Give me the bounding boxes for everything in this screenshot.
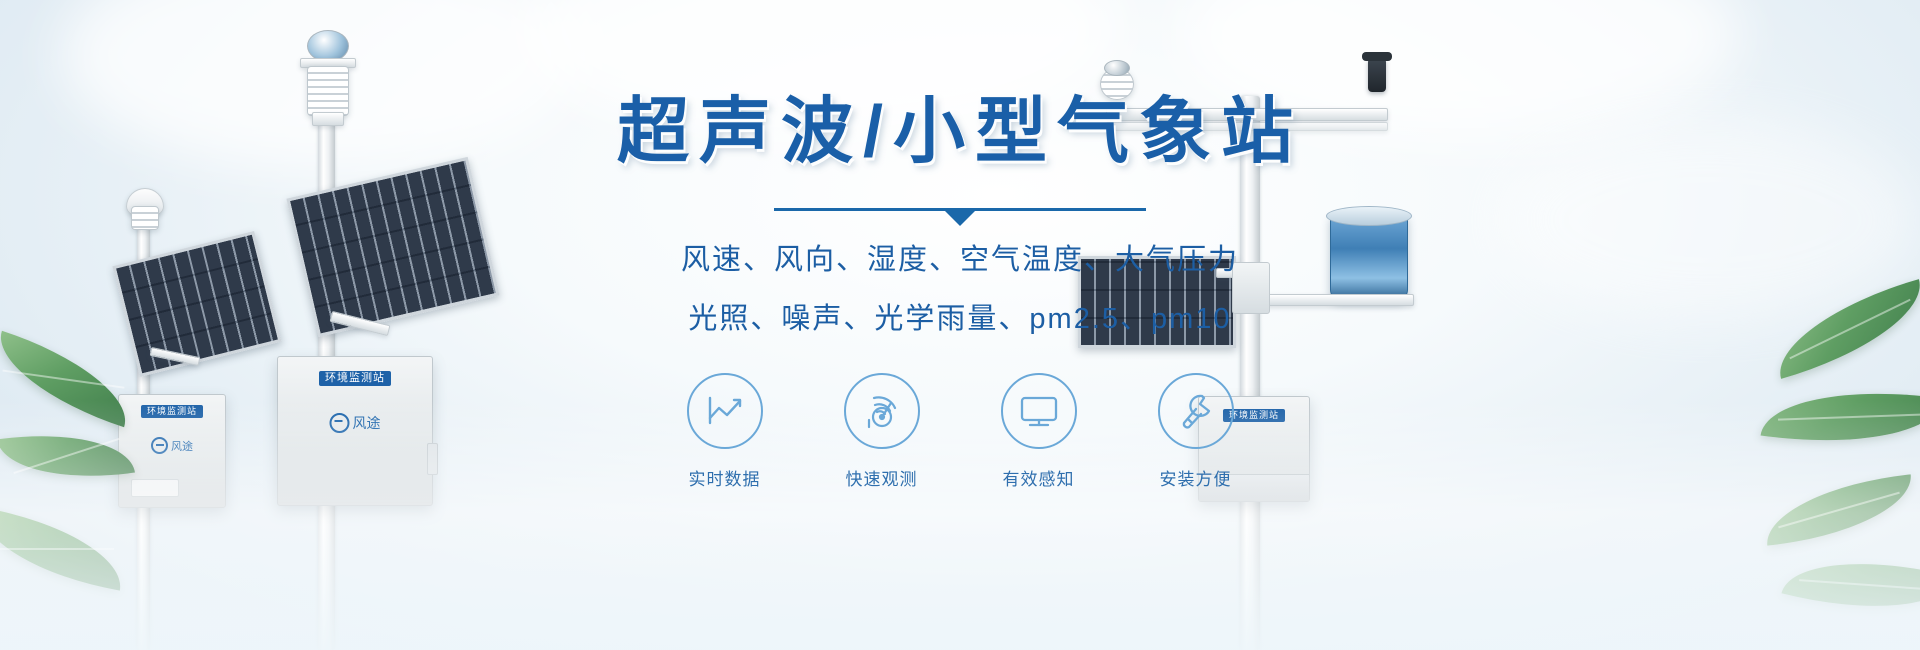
feature-label: 有效感知 bbox=[1003, 465, 1075, 490]
feature-label: 安装方便 bbox=[1160, 465, 1232, 490]
line-chart-icon bbox=[687, 373, 763, 449]
subtitle-line-2: 光照、噪声、光学雨量、pm2.5、pm10 bbox=[688, 295, 1231, 337]
feature-item-effective-sensing[interactable]: 有效感知 bbox=[997, 373, 1081, 490]
page-title: 超声波/小型气象站 bbox=[617, 96, 1303, 168]
product-banner: 环境监测站 风途 环境监测站 风途 bbox=[0, 0, 1920, 650]
subtitle-line-1: 风速、风向、湿度、空气温度、大气压力 bbox=[681, 236, 1239, 278]
feature-label: 快速观测 bbox=[846, 465, 918, 490]
sensor-top bbox=[1104, 60, 1130, 76]
title-divider bbox=[774, 204, 1146, 220]
feature-item-realtime-data[interactable]: 实时数据 bbox=[683, 373, 767, 490]
chevron-down-icon bbox=[945, 211, 975, 226]
wrench-icon bbox=[1158, 373, 1234, 449]
optical-rain-sensor-cap bbox=[1362, 52, 1392, 61]
feature-label: 实时数据 bbox=[689, 465, 761, 490]
feature-item-fast-observation[interactable]: 快速观测 bbox=[840, 373, 924, 490]
feature-item-easy-install[interactable]: 安装方便 bbox=[1154, 373, 1238, 490]
banner-copy: 超声波/小型气象站 风速、风向、湿度、空气温度、大气压力 光照、噪声、光学雨量、… bbox=[0, 96, 1920, 490]
monitor-screen-icon bbox=[1001, 373, 1077, 449]
optical-rain-sensor bbox=[1368, 58, 1386, 92]
radar-signal-icon bbox=[844, 373, 920, 449]
feature-list: 实时数据 快速观测 bbox=[683, 373, 1238, 490]
